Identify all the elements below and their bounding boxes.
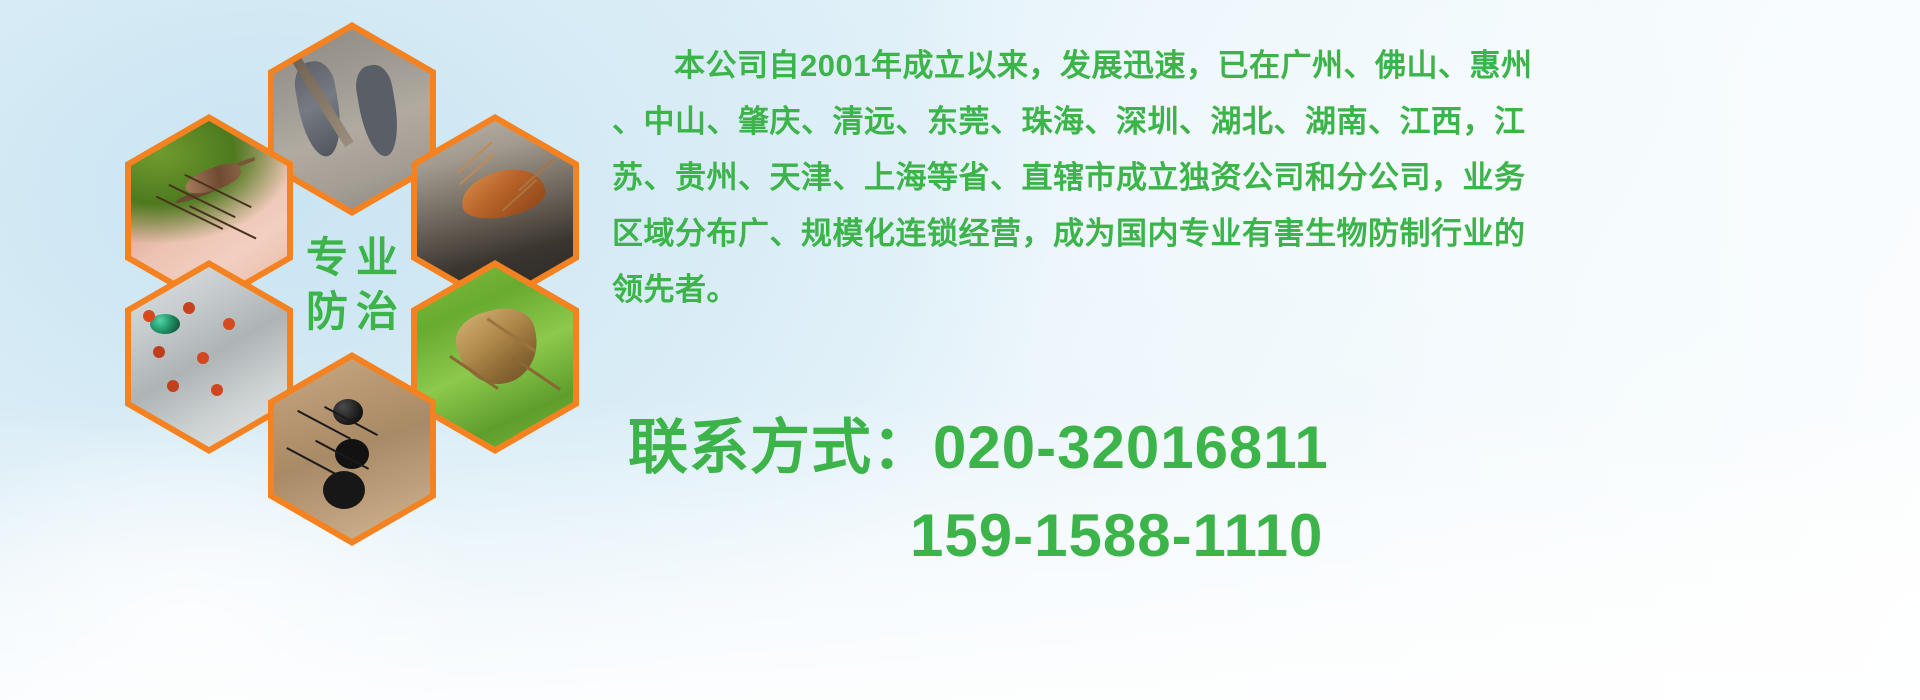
contact-landline[interactable]: 联系方式：020-32016811 [628,404,1918,492]
hex-cell-rats[interactable] [268,22,436,216]
hex-cell-slogan: 专业 防治 [268,188,436,382]
contact-mobile[interactable]: 159-1588-1110 [628,492,1918,580]
hex-cell-rats-inner [274,29,430,209]
company-intro-paragraph: 本公司自2001年成立以来，发展迅速，已在广州、佛山、惠州 、中山、肇庆、清远、… [612,38,1902,318]
pest-control-banner: 专业 防治 本公司自2001年成立以来，发展迅速，已在广州、佛山、惠州 、中山、… [0,0,1920,700]
ant-photo [274,359,430,539]
intro-line-1: 本公司自2001年成立以来，发展迅速，已在广州、佛山、惠州 [612,38,1902,94]
flies-photo [131,267,287,447]
intro-line-3: 苏、贵州、天津、上海等省、直辖市成立独资公司和分公司，业务 [612,150,1902,206]
hex-cell-ant-inner [274,359,430,539]
rats-photo [274,29,430,209]
intro-line-2: 、中山、肇庆、清远、东莞、珠海、深圳、湖北、湖南、江西，江 [612,94,1902,150]
honeycomb-collage: 专业 防治 [92,8,592,578]
slogan-line-1: 专业 [298,237,406,279]
hex-cell-flies-inner [131,267,287,447]
intro-line-5: 领先者。 [612,262,1902,318]
contact-block: 联系方式：020-32016811 159-1588-1110 [628,404,1918,580]
stinkbug-photo [417,267,573,447]
hex-cell-stinkbug-inner [417,267,573,447]
slogan-line-2: 防治 [298,291,406,333]
hex-cell-stinkbug[interactable] [411,260,579,454]
intro-line-4: 区域分布广、规模化连锁经营，成为国内专业有害生物防制行业的 [612,206,1902,262]
